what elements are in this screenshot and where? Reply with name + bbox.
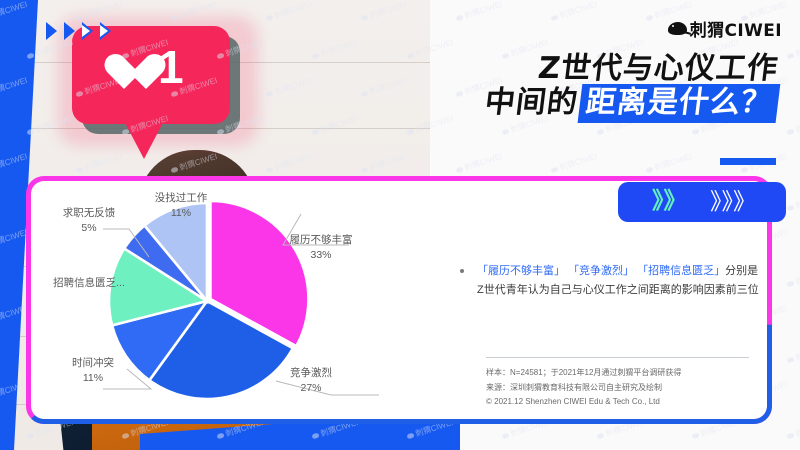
title-line-2: 中间的距离是什么？	[483, 86, 780, 120]
pie-label-0: 履历不够丰富33%	[266, 233, 376, 263]
triangle-hollow-icon	[100, 22, 111, 40]
brand-logo: 刺猬CIWEI	[668, 16, 782, 41]
bullet-row: 「履历不够丰富」 「竞争激烈」 「招聘信息匮乏」分别是Z世代青年认为自己与心仪工…	[460, 262, 760, 300]
watermark-text: 刺猬CIWEI	[644, 151, 693, 176]
pie-label-3: 招聘信息匮乏...	[43, 276, 135, 291]
brand-logo-text: 刺猬CIWEI	[690, 16, 782, 41]
triangle-solid-icon	[64, 22, 75, 40]
triangle-hollow-icon	[82, 22, 93, 40]
footnote-line: 样本：N=24581；于2021年12月通过刺猬平台调研获得	[486, 366, 761, 381]
watermark-text: 刺猬CIWEI	[785, 37, 800, 62]
footnote-line: © 2021.12 Shenzhen CIWEI Edu & Tech Co.,…	[486, 395, 761, 410]
chevron-green-icon: 》》	[652, 190, 687, 213]
keyword-highlight: 「招聘信息匮乏」	[637, 265, 725, 277]
watermark-text: 刺猬CIWEI	[785, 341, 800, 366]
watermark-text: 刺猬CIWEI	[454, 0, 503, 24]
bullet-dot-icon	[460, 269, 464, 273]
bubble-tail	[122, 117, 166, 159]
watermark-text: 刺猬CIWEI	[785, 417, 800, 442]
footnote-block: 样本：N=24581；于2021年12月通过刺猬平台调研获得来源：深圳刺猬教育科…	[486, 366, 761, 410]
pie-label-4: 求职无反馈5%	[43, 206, 135, 236]
triangle-solid-icon	[46, 22, 57, 40]
bullet-text: 「履历不够丰富」 「竞争激烈」 「招聘信息匮乏」分别是Z世代青年认为自己与心仪工…	[477, 262, 760, 300]
title-line-1: Z世代与心仪工作	[483, 52, 780, 86]
title-line-2-highlight: 距离是什么？	[578, 84, 781, 123]
keyword-highlight: 「履历不够丰富」	[477, 265, 565, 277]
like-count: 1	[158, 44, 184, 90]
title-line-2-plain: 中间的	[483, 85, 580, 120]
watermark-text: 刺猬CIWEI	[785, 265, 800, 290]
insight-panel: 「履历不够丰富」 「竞争激烈」 「招聘信息匮乏」分别是Z世代青年认为自己与心仪工…	[460, 262, 760, 300]
slide-canvas: 1 刺猬CIWEI刺猬CIWEI刺猬CIWEI刺猬CIWEI刺猬CIWEI刺猬C…	[0, 0, 800, 450]
chevron-bar: 》》 》》》	[618, 182, 786, 222]
footnote-divider	[486, 357, 749, 358]
heart-icon	[103, 55, 145, 93]
keyword-highlight: 「竞争激烈」	[568, 265, 634, 277]
watermark-text: 刺猬CIWEI	[549, 151, 598, 176]
watermark-text: 刺猬CIWEI	[454, 151, 503, 176]
watermark-text: 刺猬CIWEI	[549, 0, 598, 24]
watermark-text: 刺猬CIWEI	[785, 189, 800, 214]
chevron-white-group: 》》》	[710, 191, 756, 214]
page-title: Z世代与心仪工作 中间的距离是什么？	[485, 52, 778, 120]
pie-chart: 履历不够丰富33% 竞争激烈27% 时间冲突11% 招聘信息匮乏... 求职无反…	[31, 181, 431, 419]
pie-label-1: 竞争激烈27%	[256, 366, 366, 396]
hedgehog-icon	[668, 22, 687, 35]
pie-label-5: 没找过工作11%	[131, 191, 231, 221]
triangle-decor-row	[46, 22, 111, 40]
pie-label-2: 时间冲突11%	[48, 356, 138, 386]
chevron-green-group: 》》	[652, 190, 687, 213]
footnote-line: 来源：深圳刺猬教育科技有限公司自主研究及绘制	[486, 381, 761, 396]
blue-rule-decor	[720, 158, 776, 165]
watermark-text: 刺猬CIWEI	[785, 113, 800, 138]
chevron-white-icon: 》》》	[710, 191, 756, 214]
